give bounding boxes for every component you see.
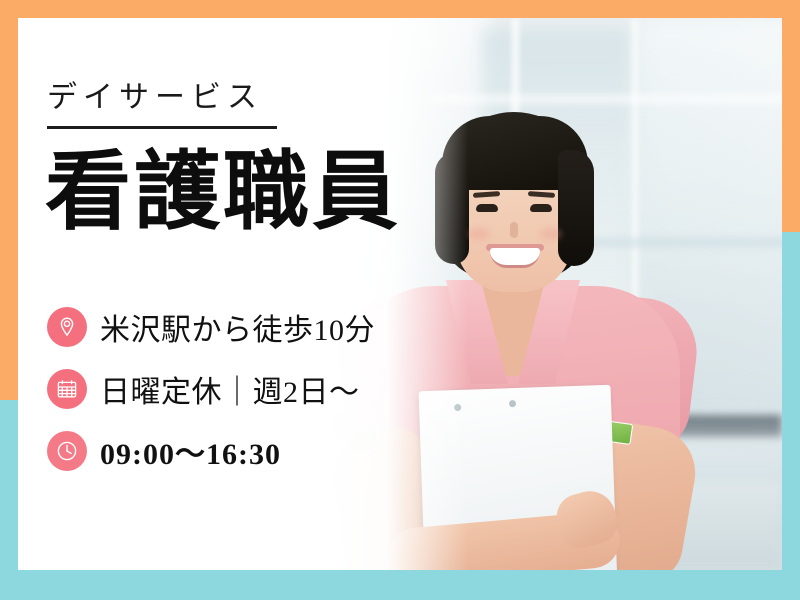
clipboard-rivet-right xyxy=(509,400,516,407)
content-area: デイサービス 看護職員 米沢駅から徒歩10分 xyxy=(18,18,782,570)
nurse-smile-mouth xyxy=(490,248,540,268)
banner-root: デイサービス 看護職員 米沢駅から徒歩10分 xyxy=(0,0,800,600)
frame-bar-right-orange xyxy=(782,0,800,232)
eyebrow-label: デイサービス xyxy=(47,72,263,116)
frame-bar-top xyxy=(0,0,800,18)
info-list: 米沢駅から徒歩10分 日曜定休｜週2日〜 xyxy=(47,296,447,482)
frame-bar-bottom xyxy=(0,570,800,600)
page-title: 看護職員 xyxy=(45,146,401,239)
calendar-icon xyxy=(47,369,87,409)
frame-bar-left-orange xyxy=(0,0,18,400)
nurse-cheek-left xyxy=(468,228,490,240)
frame-bar-right-cyan xyxy=(782,232,800,600)
nurse-nose xyxy=(510,222,518,238)
nurse-cheek-right xyxy=(540,228,562,240)
info-row-hours-text: 09:00〜16:30 xyxy=(100,429,281,473)
info-row-location: 米沢駅から徒歩10分 xyxy=(47,296,447,358)
nurse-eye-left xyxy=(476,204,498,212)
info-row-holiday: 日曜定休｜週2日〜 xyxy=(47,358,447,420)
clock-icon xyxy=(47,431,87,471)
nurse-eye-right xyxy=(530,204,552,212)
info-row-location-text: 米沢駅から徒歩10分 xyxy=(100,305,375,349)
nurse-hair-side-right xyxy=(558,150,594,266)
location-pin-icon xyxy=(47,307,87,347)
info-row-hours: 09:00〜16:30 xyxy=(47,420,447,482)
info-row-holiday-text: 日曜定休｜週2日〜 xyxy=(100,367,360,411)
divider-rule xyxy=(47,126,277,129)
